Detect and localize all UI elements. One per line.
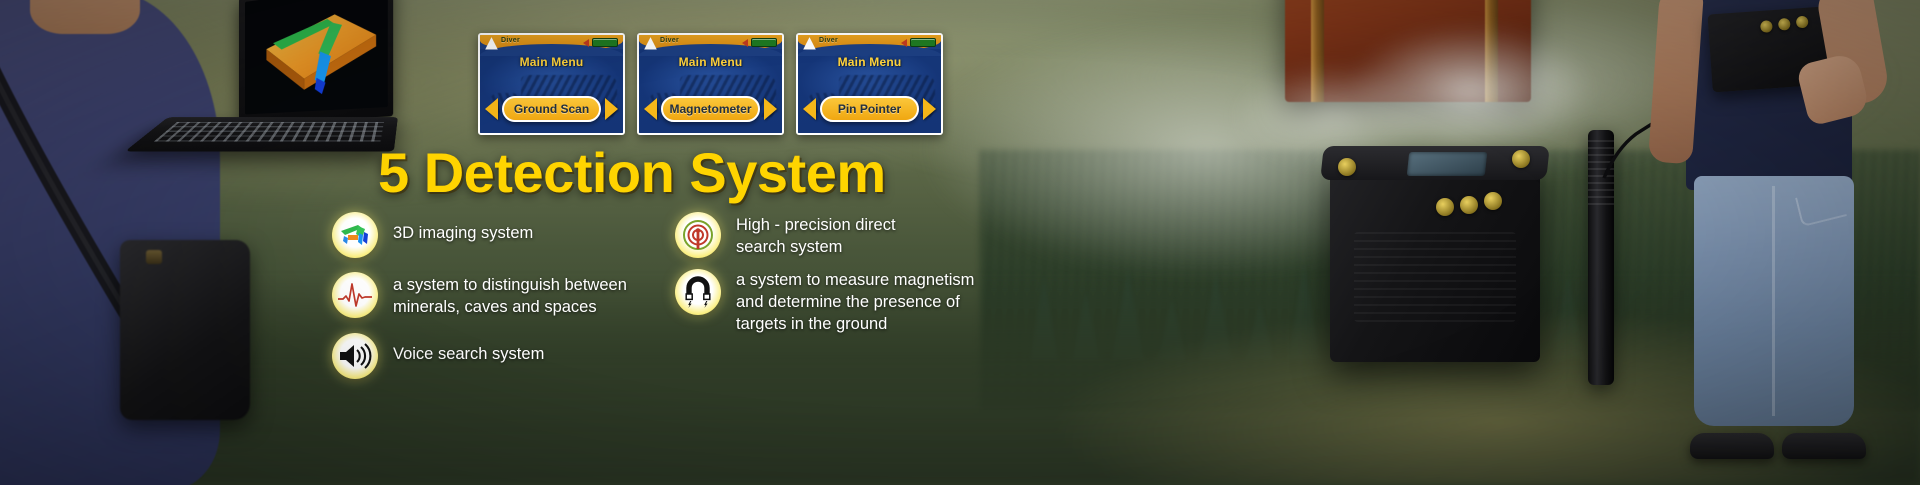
3d-ground-scan-visualization [245, 0, 388, 108]
menu-panel-magnetometer[interactable]: Diver Main Menu Magnetometer [637, 33, 784, 135]
speaker-icon [742, 39, 748, 47]
brand-logo-icon [643, 36, 658, 50]
battery-icon [910, 38, 936, 47]
handheld-probe-pole [1588, 130, 1614, 385]
detector-body-texture [1354, 232, 1516, 322]
panel-title: Main Menu [798, 55, 941, 69]
chest-metal-band [1311, 0, 1324, 102]
operator-jeans [1694, 176, 1854, 426]
wooden-treasure-chest [1285, 0, 1531, 102]
operator-shoe [1690, 433, 1774, 459]
feature-label: 3D imaging system [393, 212, 533, 244]
brand-name: Diver [819, 37, 838, 44]
feature-list-right: High - precision direct search system a … [675, 212, 1095, 349]
speaker-icon [583, 39, 589, 47]
detector-knob[interactable] [1338, 158, 1356, 176]
handheld-knob[interactable] [1778, 18, 1791, 31]
detector-promo-banner: Diver Main Menu Ground Scan Div [0, 0, 1920, 485]
jeans-pocket [1795, 187, 1847, 227]
waveform-glyph [337, 281, 373, 309]
chevron-left-icon[interactable] [485, 98, 498, 120]
detector-port[interactable] [1484, 192, 1502, 210]
battery-icon [592, 38, 618, 47]
3d-imaging-icon [332, 212, 378, 258]
handheld-knob[interactable] [1760, 20, 1773, 33]
operator-shoe [1782, 433, 1866, 459]
magnet-icon [675, 269, 721, 315]
speaker-glyph [338, 342, 372, 370]
panel-selector-row: Magnetometer [644, 96, 777, 122]
detector-display [1407, 152, 1488, 176]
operator-laptop [148, 0, 398, 164]
3d-imaging-glyph [338, 220, 372, 250]
battery-indicator [583, 38, 618, 47]
chevron-left-icon[interactable] [803, 98, 816, 120]
feature-label: High - precision direct search system [736, 212, 896, 259]
bag-buckle [146, 250, 162, 264]
chevron-right-icon[interactable] [605, 98, 618, 120]
detector-port[interactable] [1460, 196, 1478, 214]
feature-label: a system to measure magnetism and determ… [736, 269, 974, 336]
mode-button[interactable]: Ground Scan [502, 96, 601, 122]
right-operator [1650, 0, 1920, 485]
battery-indicator [742, 38, 777, 47]
waveform-icon [332, 272, 378, 318]
feature-label: a system to distinguish between minerals… [393, 272, 627, 319]
portable-detector-case [1330, 162, 1540, 362]
menu-panel-ground-scan[interactable]: Diver Main Menu Ground Scan [478, 33, 625, 135]
panel-status-bar: Diver [480, 35, 623, 52]
detector-port[interactable] [1436, 198, 1454, 216]
panel-title: Main Menu [480, 55, 623, 69]
chevron-right-icon[interactable] [764, 98, 777, 120]
mode-button[interactable]: Magnetometer [661, 96, 760, 122]
device-menu-panels: Diver Main Menu Ground Scan Div [478, 33, 943, 135]
feature-item: High - precision direct search system [675, 212, 1095, 259]
mode-button[interactable]: Pin Pointer [820, 96, 919, 122]
brand-name: Diver [660, 37, 679, 44]
chevron-right-icon[interactable] [923, 98, 936, 120]
feature-item: a system to measure magnetism and determ… [675, 269, 1095, 336]
jeans-seam [1772, 186, 1775, 416]
equipment-bag [120, 240, 250, 420]
panel-status-bar: Diver [798, 35, 941, 52]
feature-label: Voice search system [393, 333, 544, 365]
chest-metal-band [1485, 0, 1498, 102]
radar-signal-icon [675, 212, 721, 258]
panel-status-bar: Diver [639, 35, 782, 52]
panel-selector-row: Ground Scan [485, 96, 618, 122]
chevron-left-icon[interactable] [644, 98, 657, 120]
left-operator-neck [30, 0, 140, 34]
brand-logo-icon [802, 36, 817, 50]
radar-signal-glyph [682, 219, 714, 251]
laptop-keyboard-base [125, 117, 398, 151]
brand-name: Diver [501, 37, 520, 44]
menu-panel-pin-pointer[interactable]: Diver Main Menu Pin Pointer [796, 33, 943, 135]
laptop-lid [239, 0, 393, 123]
battery-icon [751, 38, 777, 47]
speaker-icon [332, 333, 378, 379]
laptop-keys [154, 122, 384, 142]
laptop-screen [245, 0, 388, 114]
detector-knob[interactable] [1512, 150, 1530, 168]
brand-logo-icon [484, 36, 499, 50]
handheld-knob[interactable] [1796, 16, 1809, 29]
battery-indicator [901, 38, 936, 47]
panel-title: Main Menu [639, 55, 782, 69]
panel-selector-row: Pin Pointer [803, 96, 936, 122]
probe-grip [1588, 140, 1614, 210]
magnet-glyph [682, 276, 714, 308]
speaker-icon [901, 39, 907, 47]
page-title: 5 Detection System [378, 140, 886, 205]
